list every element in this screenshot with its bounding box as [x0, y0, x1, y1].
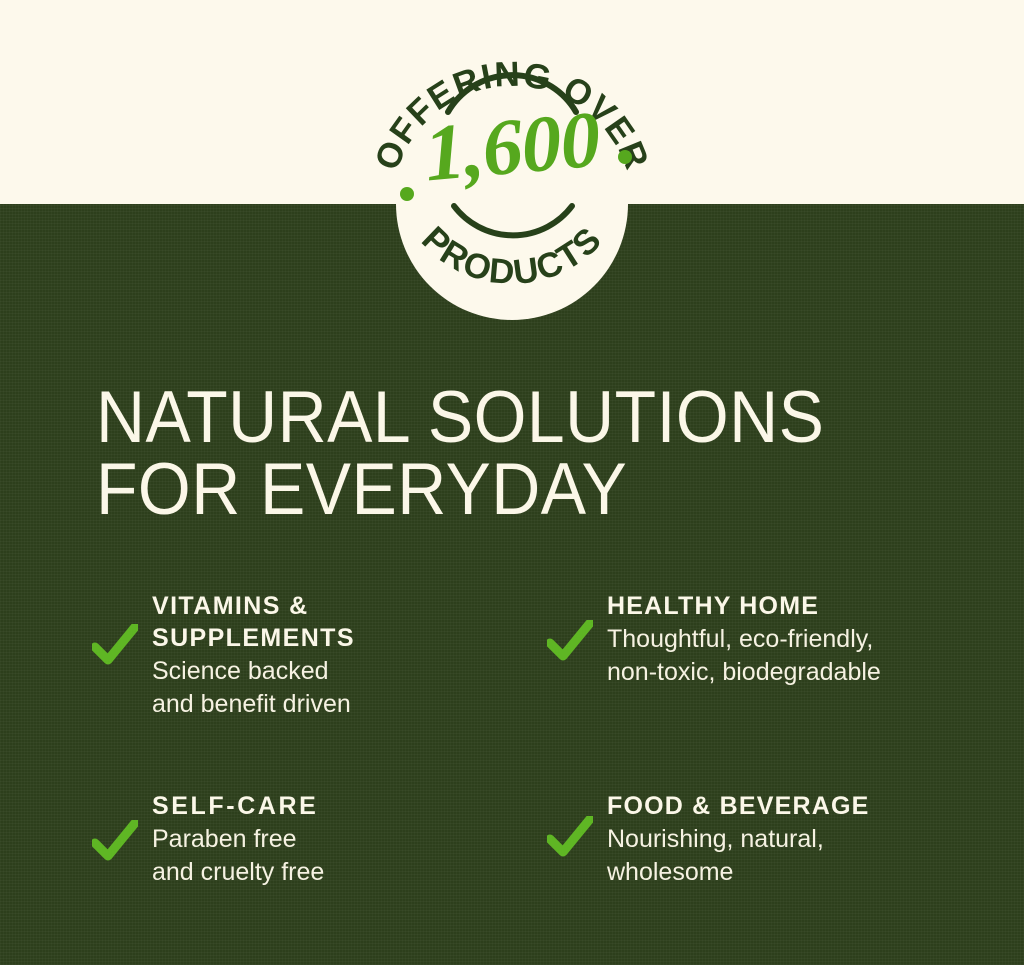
feature-description: Nourishing, natural, wholesome: [607, 823, 869, 888]
feature-title: VITAMINS & SUPPLEMENTS: [152, 590, 355, 654]
checkmark-icon: [547, 788, 607, 860]
badge-inner-arc-bottom: [454, 206, 572, 235]
feature-item-vitamins-supplements: VITAMINS & SUPPLEMENTS Science backed an…: [92, 588, 547, 788]
feature-description: Paraben free and cruelty free: [152, 823, 324, 888]
feature-item-healthy-home: HEALTHY HOME Thoughtful, eco-friendly, n…: [547, 588, 992, 788]
checkmark-icon: [92, 788, 152, 864]
feature-item-food-beverage: FOOD & BEVERAGE Nourishing, natural, who…: [547, 788, 992, 938]
feature-text: SELF-CARE Paraben free and cruelty free: [152, 788, 324, 888]
feature-description: Thoughtful, eco-friendly, non-toxic, bio…: [607, 623, 881, 688]
feature-text: FOOD & BEVERAGE Nourishing, natural, who…: [607, 788, 869, 888]
feature-title: FOOD & BEVERAGE: [607, 790, 869, 822]
promo-poster: OFFERING OVER PRODUCTS 1,600 NATURAL SOL…: [0, 0, 1024, 965]
checkmark-icon: [92, 588, 152, 668]
feature-text: VITAMINS & SUPPLEMENTS Science backed an…: [152, 588, 355, 720]
feature-title: SELF-CARE: [152, 790, 324, 822]
checkmark-icon: [547, 588, 607, 664]
feature-list: VITAMINS & SUPPLEMENTS Science backed an…: [92, 588, 992, 938]
feature-title: HEALTHY HOME: [607, 590, 881, 622]
badge-bottom-arc-text: PRODUCTS: [414, 219, 609, 292]
headline-line-1: NATURAL SOLUTIONS: [96, 382, 914, 454]
feature-item-self-care: SELF-CARE Paraben free and cruelty free: [92, 788, 547, 938]
page-title: NATURAL SOLUTIONS FOR EVERYDAY: [96, 382, 914, 527]
badge-product-count: 1,600: [392, 82, 633, 212]
feature-description: Science backed and benefit driven: [152, 655, 355, 720]
headline-line-2: FOR EVERYDAY: [96, 454, 914, 526]
feature-text: HEALTHY HOME Thoughtful, eco-friendly, n…: [607, 588, 881, 688]
